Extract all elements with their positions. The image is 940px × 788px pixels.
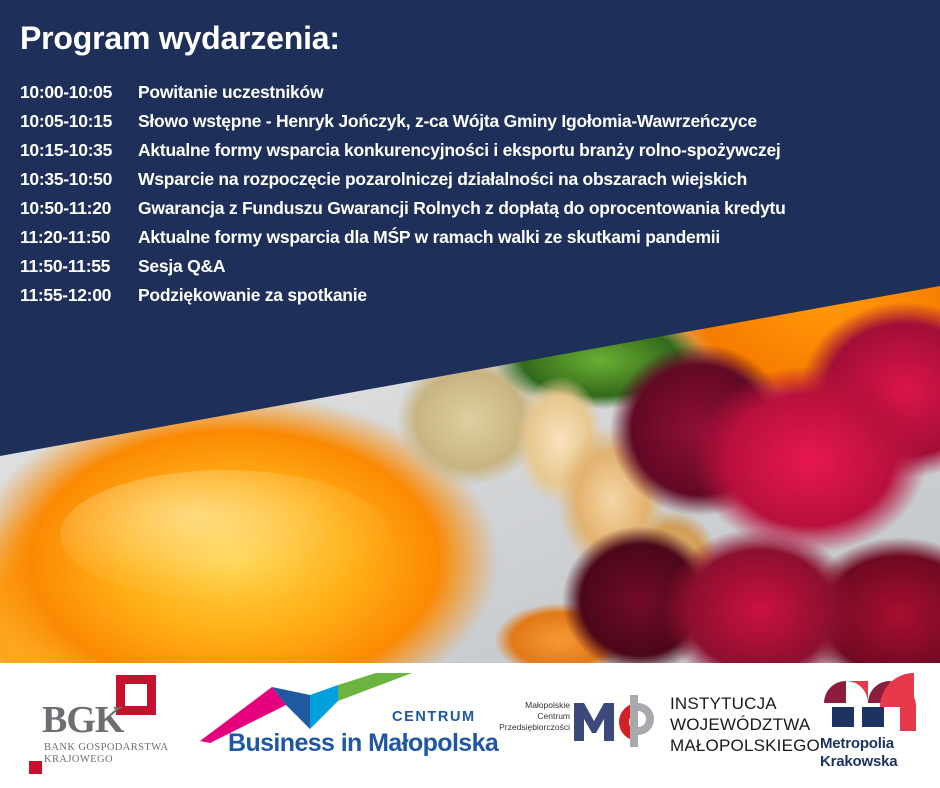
program-time: 11:50-11:55 — [20, 252, 138, 281]
logo-bgk: BGK BANK GOSPODARSTWA KRAJOWEGO — [0, 663, 200, 788]
list-item: 11:50-11:55 Sesja Q&A — [20, 252, 930, 281]
mcp-caption: Małopolskie Centrum Przedsiębiorczości — [492, 700, 570, 733]
mk-wordmark: Metropolia Krakowska — [820, 735, 897, 771]
program-time: 10:00-10:05 — [20, 78, 138, 107]
program-topic: Wsparcie na rozpoczęcie pozarolniczej dz… — [138, 165, 747, 194]
program-time: 10:50-11:20 — [20, 194, 138, 223]
program-time: 10:35-10:50 — [20, 165, 138, 194]
program-topic: Gwarancja z Funduszu Gwarancji Rolnych z… — [138, 194, 786, 223]
event-program-poster: Program wydarzenia: 10:00-10:05 Powitani… — [0, 0, 940, 788]
list-item: 10:00-10:05 Powitanie uczestników — [20, 78, 930, 107]
list-item: 10:05-10:15 Słowo wstępne - Henryk Jończ… — [20, 107, 930, 136]
bgk-dot-icon — [29, 761, 42, 774]
bgk-wordmark: BGK — [42, 701, 123, 739]
bim-wordmark: Business in Małopolska — [228, 729, 498, 758]
program-topic: Podziękowanie za spotkanie — [138, 281, 367, 310]
logo-business-in-malopolska: CENTRUM Business in Małopolska — [200, 663, 490, 788]
program-list: 10:00-10:05 Powitanie uczestników 10:05-… — [20, 78, 930, 310]
list-item: 10:35-10:50 Wsparcie na rozpoczęcie poza… — [20, 165, 930, 194]
logo-metropolia-krakowska: Metropolia Krakowska — [810, 663, 940, 788]
mcp-institution-text: INSTYTUCJA WOJEWÓDZTWA MAŁOPOLSKIEGO — [670, 693, 820, 756]
list-item: 10:50-11:20 Gwarancja z Funduszu Gwaranc… — [20, 194, 930, 223]
program-time: 10:05-10:15 — [20, 107, 138, 136]
program-topic: Aktualne formy wsparcia konkurencyjności… — [138, 136, 781, 165]
program-topic: Sesja Q&A — [138, 252, 225, 281]
list-item: 11:20-11:50 Aktualne formy wsparcia dla … — [20, 223, 930, 252]
program-time: 11:55-12:00 — [20, 281, 138, 310]
list-item: 11:55-12:00 Podziękowanie za spotkanie — [20, 281, 930, 310]
bgk-subtitle: BANK GOSPODARSTWA KRAJOWEGO — [44, 742, 168, 766]
sponsor-logo-strip: BGK BANK GOSPODARSTWA KRAJOWEGO CENTRUM … — [0, 663, 940, 788]
list-item: 10:15-10:35 Aktualne formy wsparcia konk… — [20, 136, 930, 165]
mk-arches-icon — [822, 673, 926, 731]
program-topic: Słowo wstępne - Henryk Jończyk, z-ca Wój… — [138, 107, 757, 136]
program-topic: Powitanie uczestników — [138, 78, 323, 107]
mcp-monogram-icon — [572, 691, 662, 747]
logo-mcp: Małopolskie Centrum Przedsiębiorczości I… — [490, 663, 810, 788]
program-topic: Aktualne formy wsparcia dla MŚP w ramach… — [138, 223, 720, 252]
program-time: 11:20-11:50 — [20, 223, 138, 252]
bim-centrum-label: CENTRUM — [392, 709, 476, 725]
program-time: 10:15-10:35 — [20, 136, 138, 165]
page-title: Program wydarzenia: — [20, 20, 340, 57]
